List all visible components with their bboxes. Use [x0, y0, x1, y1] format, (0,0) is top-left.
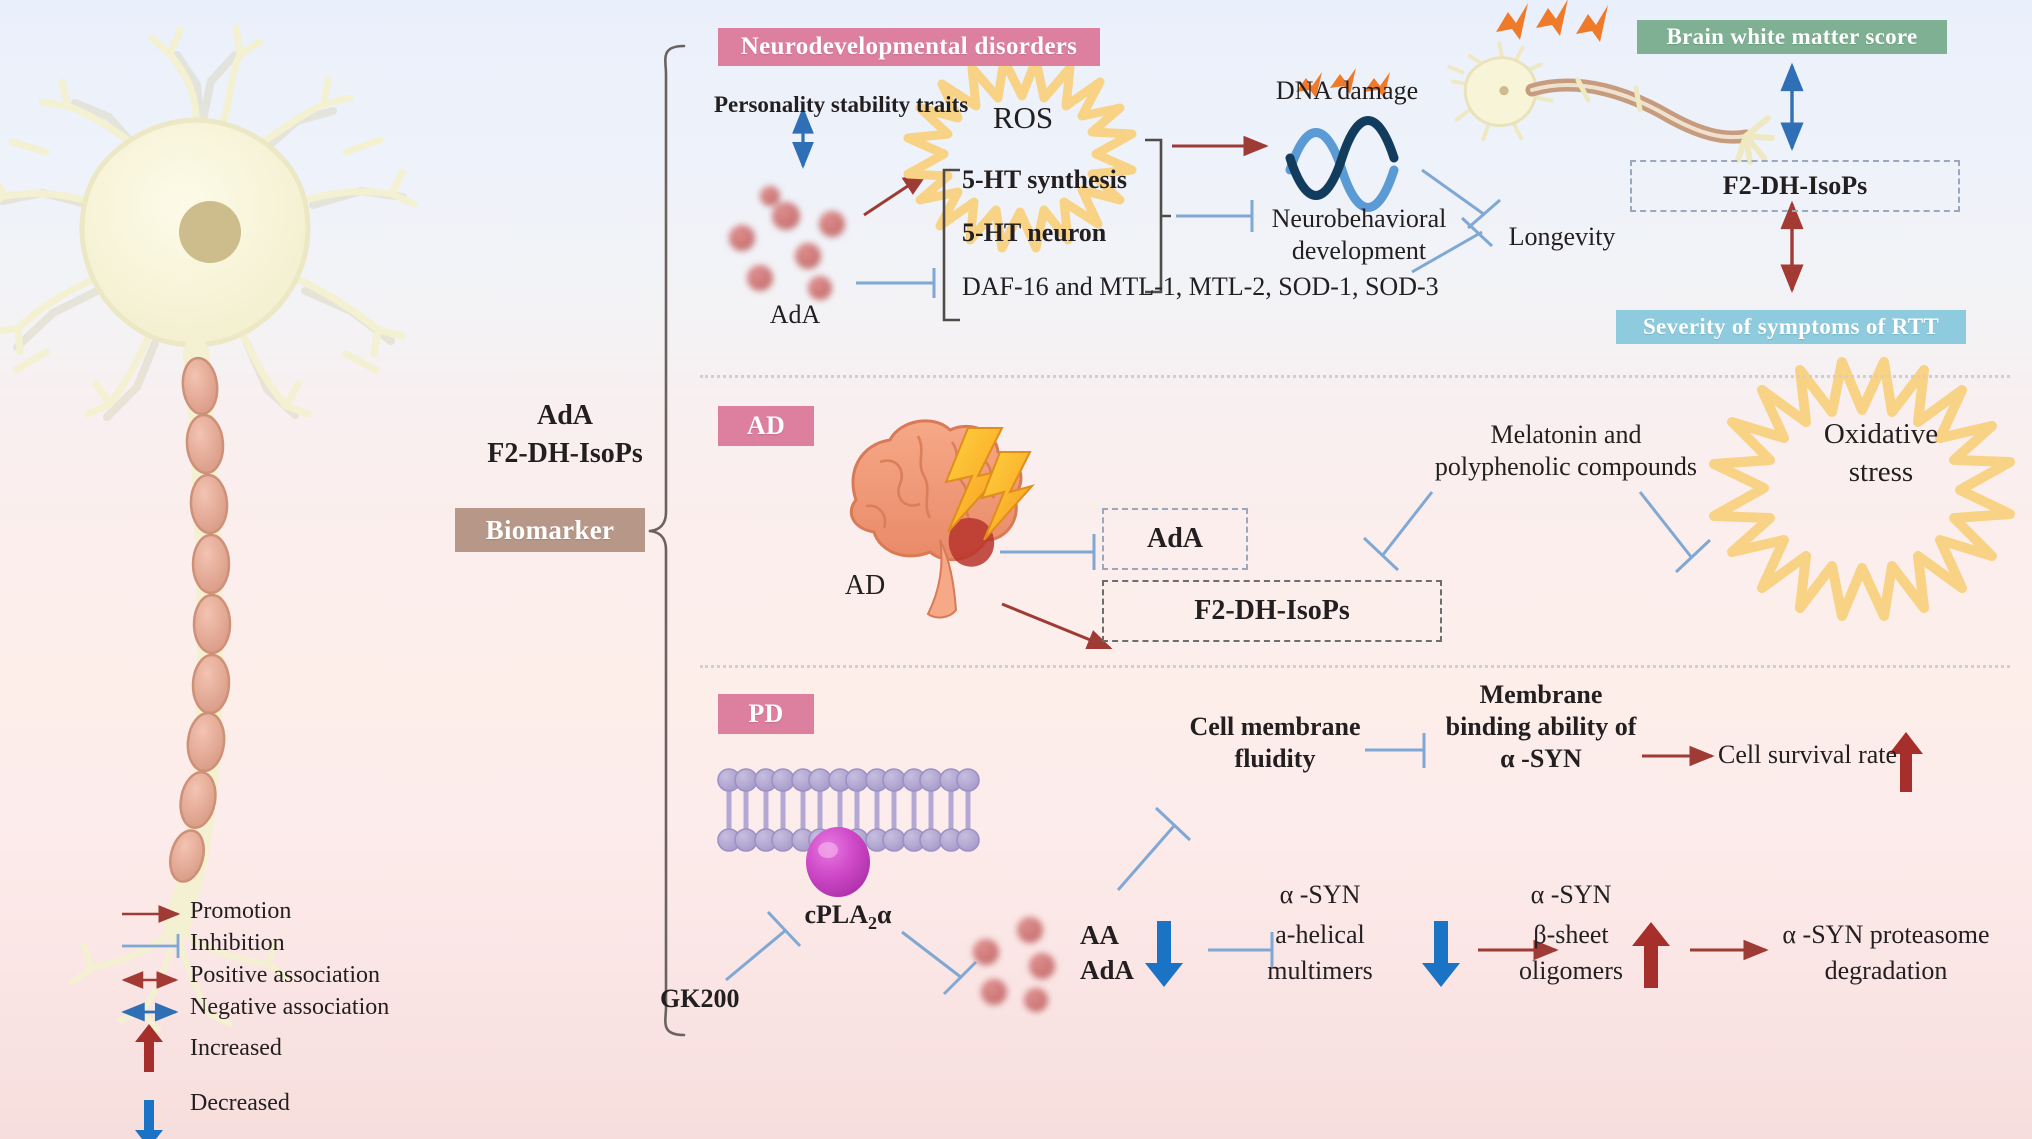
legend-item-inhibition: Inhibition — [190, 930, 285, 957]
decreased-arrow-ada — [1145, 921, 1183, 987]
decreased-arrow-helical — [1422, 921, 1460, 987]
legend-glyphs — [122, 914, 178, 1139]
right-square-bracket-outputs — [1145, 140, 1171, 292]
label-ad: AD — [820, 570, 910, 602]
f2dhisops-box-ad: F2-DH-IsoPs — [1102, 580, 1442, 642]
label-alpha-helical-line1: α -SYN — [1222, 880, 1418, 910]
label-aa: AA — [1080, 920, 1119, 951]
label-membrane-binding-line1: Membrane — [1424, 680, 1658, 710]
label-beta-sheet-line2: β-sheet — [1478, 920, 1664, 950]
label-neurobehavioral-line1: Neurobehavioral — [1250, 204, 1468, 234]
lipid-droplets-icon-pd — [973, 917, 1055, 1012]
ada-box-ad: AdA — [1102, 508, 1248, 570]
main-bracket — [650, 46, 684, 1035]
inhibition-lipids-membrane-fluidity — [1118, 808, 1190, 890]
promotion-ad-f2dhisops — [1002, 604, 1110, 648]
label-membrane-binding-line3: α -SYN — [1424, 744, 1658, 774]
inhibition-ros-neurobehavioral — [1176, 200, 1252, 232]
biomarker-tag[interactable]: Biomarker — [455, 508, 645, 552]
label-neurobehavioral-line2: development — [1250, 236, 1468, 266]
biomarker-title-line2: F2-DH-IsoPs — [450, 438, 680, 470]
label-alpha-helical-line2: a-helical — [1222, 920, 1418, 950]
inhibition-ad-ada — [1000, 534, 1094, 570]
label-alpha-helical-line3: multimers — [1222, 956, 1418, 986]
label-melatonin-line2: polyphenolic compounds — [1406, 452, 1726, 482]
label-cpla2a: cPLA2α — [768, 900, 928, 934]
cpla2a-post: α — [877, 900, 892, 929]
label-oxidative-line1: Oxidative — [1790, 418, 1972, 451]
label-5ht-synthesis: 5-HT synthesis — [962, 165, 1127, 195]
legend-item-positive-association: Positive association — [190, 962, 380, 989]
f2dhisops-box-nd: F2-DH-IsoPs — [1630, 160, 1960, 212]
section-tag-pd[interactable]: PD — [718, 694, 814, 734]
label-longevity: Longevity — [1482, 222, 1642, 252]
label-beta-sheet-line3: oligomers — [1478, 956, 1664, 986]
inhibition-cpla2a-lipids — [902, 932, 976, 994]
severity-rtt-tag[interactable]: Severity of symptoms of RTT — [1616, 310, 1966, 344]
label-cell-survival-rate: Cell survival rate — [1718, 740, 1897, 770]
cpla2a-sub: 2 — [868, 913, 877, 933]
inhibition-melatonin-ada — [1364, 492, 1432, 570]
axon — [72, 352, 288, 1030]
label-personality-stability-traits: Personality stability traits — [714, 92, 968, 118]
label-oxidative-line2: stress — [1790, 456, 1972, 489]
brain-white-matter-score-tag[interactable]: Brain white matter score — [1637, 20, 1947, 54]
label-melatonin-line1: Melatonin and — [1406, 420, 1726, 450]
label-5ht-neuron: 5-HT neuron — [962, 218, 1106, 248]
cpla2a-pre: cPLA — [804, 900, 868, 929]
section-tag-ad[interactable]: AD — [718, 406, 814, 446]
label-beta-sheet-line1: α -SYN — [1478, 880, 1664, 910]
lipid-droplets-icon-nd — [729, 186, 845, 300]
section-tag-neurodevelopmental[interactable]: Neurodevelopmental disorders — [718, 28, 1100, 66]
label-ada-nd: AdA — [740, 300, 850, 330]
label-ros: ROS — [958, 100, 1088, 136]
label-cell-membrane-line2: fluidity — [1172, 744, 1378, 774]
legend-item-increased: Increased — [190, 1035, 282, 1062]
label-ada-pd: AdA — [1080, 955, 1134, 986]
legend-item-negative-association: Negative association — [190, 994, 389, 1021]
label-gk200: GK200 — [660, 984, 739, 1014]
label-proteasome-line2: degradation — [1726, 956, 2032, 986]
label-cell-membrane-line1: Cell membrane — [1172, 712, 1378, 742]
inhibition-melatonin-oxidative — [1640, 492, 1710, 572]
label-daf16-mtl-sod: DAF-16 and MTL-1, MTL-2, SOD-1, SOD-3 — [962, 272, 1439, 302]
legend-item-promotion: Promotion — [190, 898, 291, 925]
label-membrane-binding-line2: binding ability of — [1424, 712, 1658, 742]
promotion-arrow-ada-ros — [864, 174, 926, 215]
neuron-illustration — [0, 28, 414, 1030]
legend-item-decreased: Decreased — [190, 1090, 290, 1117]
lipid-bilayer-icon — [718, 769, 979, 897]
figure-canvas: AdA F2-DH-IsoPs Biomarker Promotion Inhi… — [0, 0, 2032, 1139]
label-proteasome-line1: α -SYN proteasome — [1726, 920, 2032, 950]
section-divider-2 — [700, 665, 2010, 668]
left-square-bracket-genes — [944, 170, 960, 320]
biomarker-title-line1: AdA — [470, 400, 660, 432]
label-dna-damage: DNA damage — [1252, 76, 1442, 106]
section-divider-1 — [700, 375, 2010, 378]
inhibition-ada-5ht — [856, 268, 934, 298]
